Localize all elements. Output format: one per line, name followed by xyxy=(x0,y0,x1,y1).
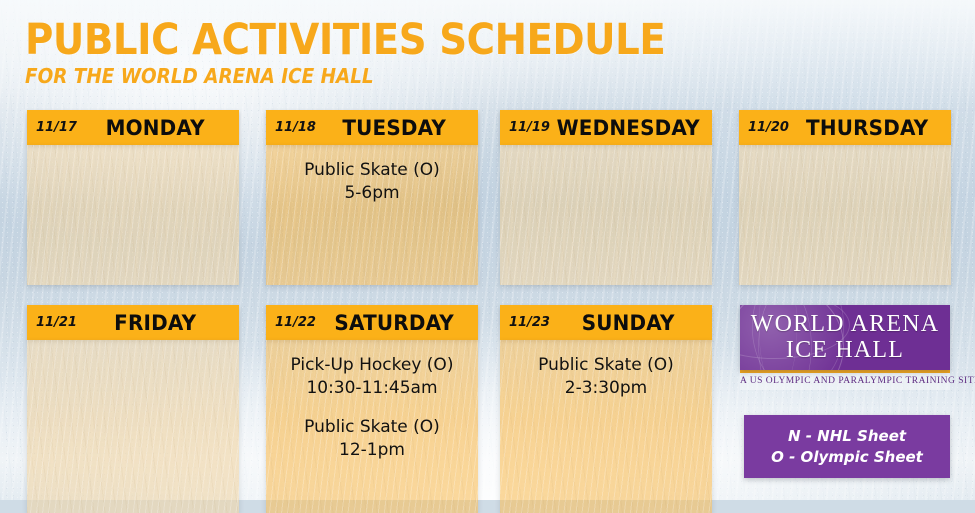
day-card-saturday: 11/22SATURDAYPick-Up Hockey (O)10:30-11:… xyxy=(266,305,478,513)
legend-line-olympic: O - Olympic Sheet xyxy=(771,447,923,468)
day-date: 11/17 xyxy=(36,120,77,135)
card-ice-texture xyxy=(500,145,712,285)
page-subtitle: FOR THE WORLD ARENA ICE HALL xyxy=(25,64,680,88)
card-ice-texture xyxy=(739,145,951,285)
day-card-monday: 11/17MONDAY xyxy=(27,110,239,285)
event-item: Pick-Up Hockey (O)10:30-11:45am xyxy=(272,354,472,400)
day-date: 11/22 xyxy=(275,315,316,330)
day-events-list xyxy=(500,145,712,159)
day-name: FRIDAY xyxy=(81,311,235,335)
logo-line-2: ICE HALL xyxy=(740,337,950,363)
event-name: Public Skate (O) xyxy=(272,159,472,182)
day-events-list: Pick-Up Hockey (O)10:30-11:45amPublic Sk… xyxy=(266,340,478,462)
day-card-header: 11/20THURSDAY xyxy=(739,110,951,145)
logo-text: WORLD ARENA ICE HALL xyxy=(740,305,950,363)
day-events-list xyxy=(27,145,239,159)
card-ice-texture xyxy=(27,340,239,513)
day-events-list: Public Skate (O)5-6pm xyxy=(266,145,478,205)
event-item: Public Skate (O)12-1pm xyxy=(272,416,472,462)
event-item: Public Skate (O)2-3:30pm xyxy=(506,354,706,400)
event-time: 12-1pm xyxy=(272,439,472,462)
day-card-friday: 11/21FRIDAY xyxy=(27,305,239,513)
event-name: Pick-Up Hockey (O) xyxy=(272,354,472,377)
day-name: THURSDAY xyxy=(793,116,947,140)
title-block: PUBLIC ACTIVITIES SCHEDULE FOR THE WORLD… xyxy=(25,18,737,88)
day-date: 11/20 xyxy=(748,120,789,135)
legend-line-nhl: N - NHL Sheet xyxy=(788,426,906,447)
day-name: SUNDAY xyxy=(554,311,708,335)
sheet-legend: N - NHL Sheet O - Olympic Sheet xyxy=(744,415,950,478)
day-events-list: Public Skate (O)2-3:30pm xyxy=(500,340,712,400)
day-name: SATURDAY xyxy=(320,311,474,335)
event-item: Public Skate (O)5-6pm xyxy=(272,159,472,205)
card-ice-texture xyxy=(27,145,239,285)
day-card-thursday: 11/20THURSDAY xyxy=(739,110,951,285)
day-card-tuesday: 11/18TUESDAYPublic Skate (O)5-6pm xyxy=(266,110,478,285)
day-card-header: 11/17MONDAY xyxy=(27,110,239,145)
logo-purple-box: WORLD ARENA ICE HALL xyxy=(740,305,950,370)
day-name: TUESDAY xyxy=(320,116,474,140)
day-name: MONDAY xyxy=(81,116,235,140)
event-name: Public Skate (O) xyxy=(506,354,706,377)
day-card-body: Public Skate (O)5-6pm xyxy=(266,145,478,285)
day-events-list xyxy=(739,145,951,159)
day-date: 11/19 xyxy=(509,120,550,135)
day-name: WEDNESDAY xyxy=(554,116,708,140)
day-date: 11/18 xyxy=(275,120,316,135)
day-card-wednesday: 11/19WEDNESDAY xyxy=(500,110,712,285)
event-time: 2-3:30pm xyxy=(506,377,706,400)
event-name: Public Skate (O) xyxy=(272,416,472,439)
event-time: 10:30-11:45am xyxy=(272,377,472,400)
logo-line-1: WORLD ARENA xyxy=(740,311,950,337)
day-date: 11/23 xyxy=(509,315,550,330)
day-card-header: 11/23SUNDAY xyxy=(500,305,712,340)
day-card-header: 11/19WEDNESDAY xyxy=(500,110,712,145)
logo-tagline: A US OLYMPIC AND PARALYMPIC TRAINING SIT… xyxy=(740,373,950,390)
day-events-list xyxy=(27,340,239,354)
day-card-header: 11/22SATURDAY xyxy=(266,305,478,340)
day-date: 11/21 xyxy=(36,315,77,330)
day-card-body xyxy=(27,145,239,285)
world-arena-ice-hall-logo: WORLD ARENA ICE HALL A US OLYMPIC AND PA… xyxy=(740,305,950,390)
day-card-sunday: 11/23SUNDAYPublic Skate (O)2-3:30pm xyxy=(500,305,712,513)
day-card-body xyxy=(739,145,951,285)
day-card-body: Public Skate (O)2-3:30pm xyxy=(500,340,712,513)
day-card-header: 11/21FRIDAY xyxy=(27,305,239,340)
day-card-body: Pick-Up Hockey (O)10:30-11:45amPublic Sk… xyxy=(266,340,478,513)
day-card-header: 11/18TUESDAY xyxy=(266,110,478,145)
page-title: PUBLIC ACTIVITIES SCHEDULE xyxy=(25,18,665,62)
day-card-body xyxy=(500,145,712,285)
day-card-body xyxy=(27,340,239,513)
event-time: 5-6pm xyxy=(272,182,472,205)
